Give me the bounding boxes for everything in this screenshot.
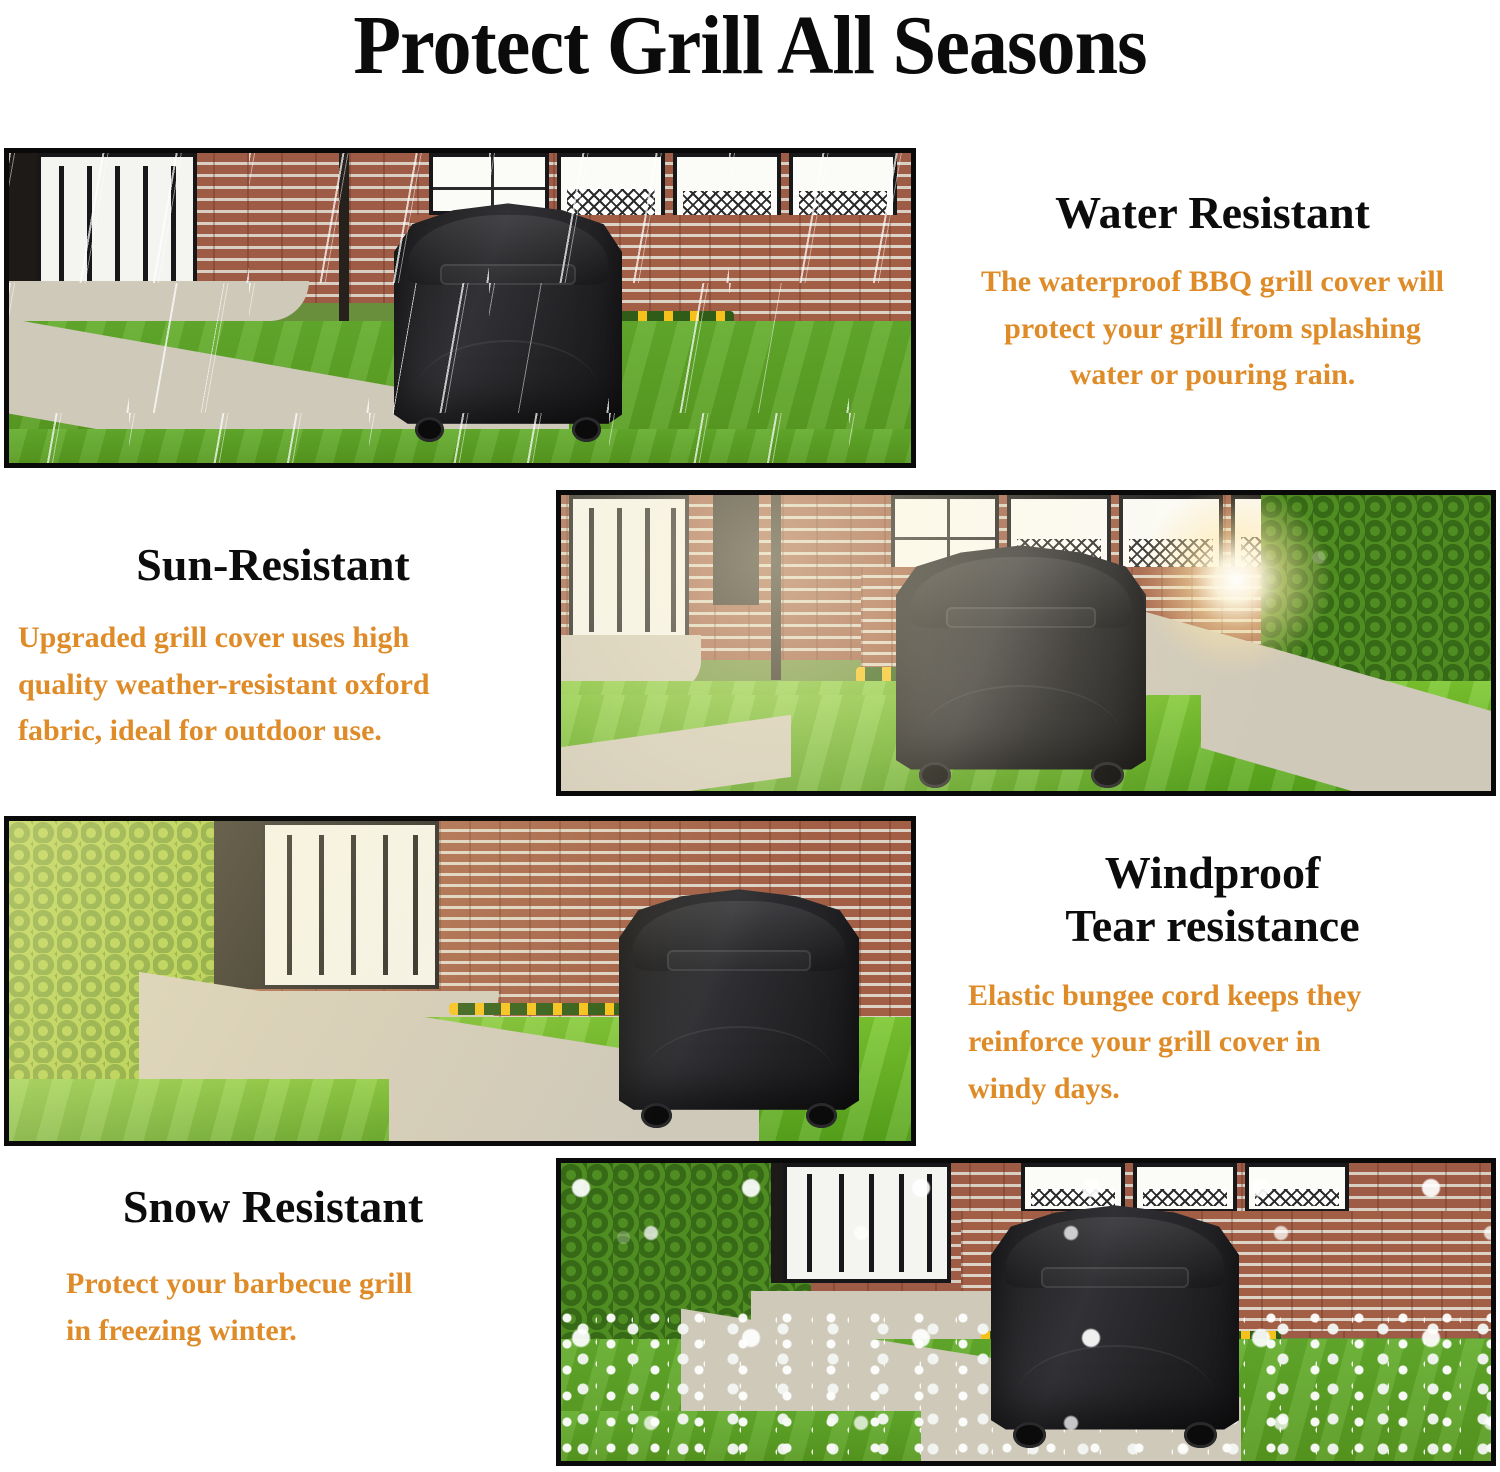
grill-cover xyxy=(394,201,622,433)
grill-cover xyxy=(619,887,859,1119)
feature-heading: Windproof Tear resistance xyxy=(930,846,1495,953)
photo-scene-snow xyxy=(561,1163,1491,1461)
feature-photo-sun-resistant xyxy=(556,490,1496,796)
feature-text-water-resistant: Water Resistant The waterproof BBQ grill… xyxy=(930,186,1495,399)
feature-heading: Sun-Resistant xyxy=(8,538,538,591)
feature-text-sun-resistant: Sun-Resistant Upgraded grill cover uses … xyxy=(8,538,538,755)
drain-pipe xyxy=(339,153,349,323)
drain-pipe xyxy=(771,495,781,680)
feature-photo-water-resistant xyxy=(4,148,916,468)
feature-body: Protect your barbecue grill in freezing … xyxy=(8,1261,538,1354)
feature-body: Upgraded grill cover uses high quality w… xyxy=(8,615,538,755)
front-path xyxy=(9,281,309,321)
grill-cover xyxy=(991,1203,1239,1439)
photo-scene-rain xyxy=(9,153,911,463)
front-door xyxy=(783,1163,951,1283)
bay-window xyxy=(1245,1163,1349,1213)
feature-body: Elastic bungee cord keeps they reinforce… xyxy=(930,973,1495,1113)
feature-photo-snow-resistant xyxy=(556,1158,1496,1466)
grill-cover xyxy=(896,543,1146,779)
wall-dark-edge xyxy=(713,495,759,605)
feature-text-windproof: Windproof Tear resistance Elastic bungee… xyxy=(930,846,1495,1112)
front-door xyxy=(569,495,689,645)
feature-heading: Snow Resistant xyxy=(8,1180,538,1233)
photo-scene-sun xyxy=(561,495,1491,791)
front-door xyxy=(261,821,439,989)
feature-body: The waterproof BBQ grill cover will prot… xyxy=(930,259,1495,399)
feature-text-snow-resistant: Snow Resistant Protect your barbecue gri… xyxy=(8,1180,538,1354)
feature-heading: Water Resistant xyxy=(930,186,1495,239)
lawn-foreground xyxy=(561,1411,921,1461)
photo-scene-wind xyxy=(9,821,911,1141)
lawn-foreground xyxy=(9,1079,389,1141)
feature-photo-windproof xyxy=(4,816,916,1146)
wall-dark-edge xyxy=(214,821,262,989)
page-title: Protect Grill All Seasons xyxy=(53,2,1448,90)
lawn-foreground xyxy=(9,429,911,463)
